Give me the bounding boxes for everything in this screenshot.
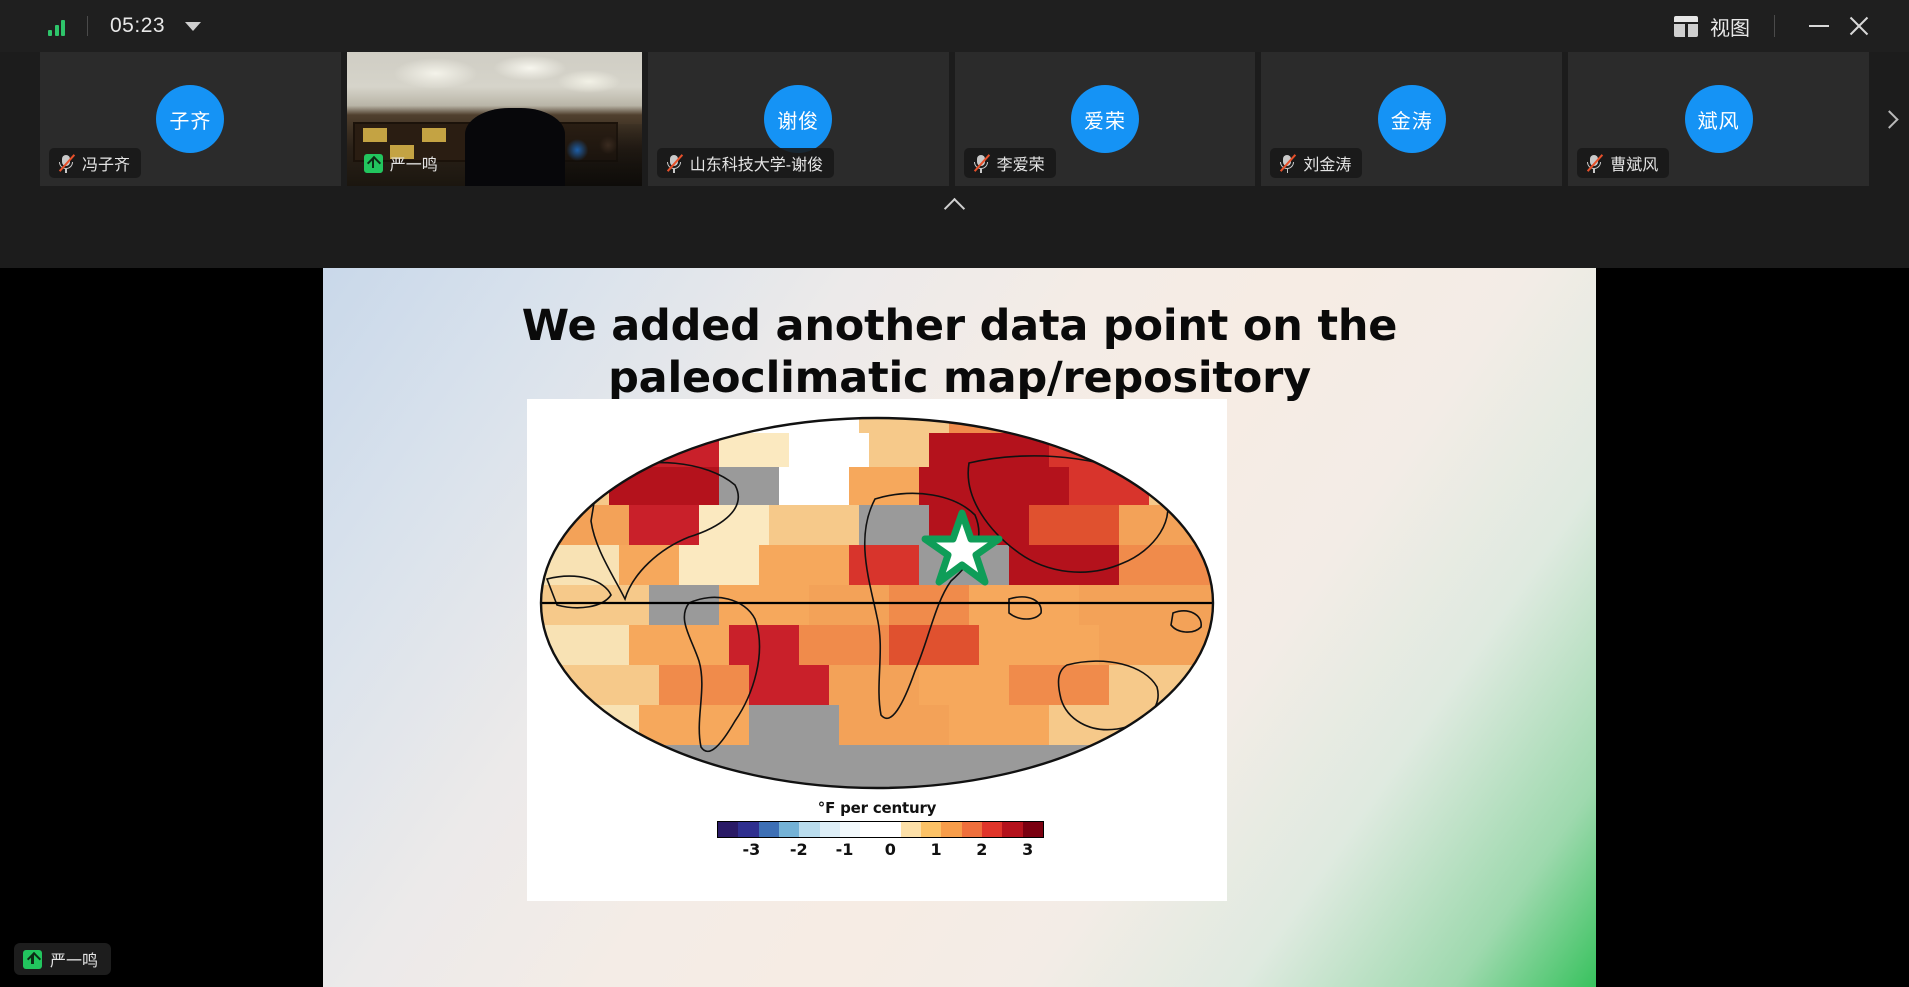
signal-strength-icon (48, 16, 65, 36)
participant-tile[interactable]: 爱荣 李爱荣 (955, 52, 1256, 186)
participant-name-chip: 李爱荣 (964, 148, 1056, 178)
avatar: 谢俊 (764, 85, 832, 153)
colorbar-label: °F per century (527, 799, 1227, 817)
colorbar-tick: 2 (976, 840, 987, 859)
participant-name-chip: 严一鸣 (356, 148, 449, 178)
colorbar-tick: -1 (836, 840, 854, 859)
microphone-muted-icon (1585, 153, 1603, 173)
layout-grid-icon (1674, 16, 1698, 37)
sharing-status-chip: 严一鸣 (14, 943, 111, 975)
title-bar-right: 视图 (1674, 6, 1909, 46)
microphone-muted-icon (665, 153, 683, 173)
participant-name: 刘金涛 (1303, 151, 1351, 175)
climate-heatmap (539, 403, 1215, 803)
meeting-timer: 05:23 (110, 14, 165, 38)
filmstrip-next-button[interactable] (1871, 52, 1907, 186)
chevron-down-icon[interactable] (185, 22, 201, 31)
participant-name-chip: 冯子齐 (49, 148, 141, 178)
participant-name-chip: 刘金涛 (1270, 148, 1362, 178)
close-button[interactable] (1839, 6, 1879, 46)
title-bar: 05:23 视图 (0, 0, 1909, 52)
chevron-right-icon (1880, 110, 1898, 128)
colorbar (717, 821, 1044, 838)
screen-share-icon (23, 950, 42, 969)
screen-share-icon (364, 154, 383, 173)
close-icon (1848, 15, 1870, 37)
participant-tile-video[interactable]: 严一鸣 (347, 52, 642, 186)
participant-name: 冯子齐 (82, 151, 130, 175)
participant-name-chip: 山东科技大学-谢俊 (657, 148, 834, 178)
divider (1774, 15, 1775, 37)
view-button[interactable]: 视图 (1674, 12, 1750, 41)
participant-name: 曹斌风 (1610, 151, 1658, 175)
avatar: 子齐 (156, 85, 224, 153)
microphone-muted-icon (972, 153, 990, 173)
colorbar-tick: -2 (790, 840, 808, 859)
colorbar-tick: 1 (931, 840, 942, 859)
participant-name: 严一鸣 (390, 151, 438, 175)
minimize-icon (1809, 25, 1829, 27)
avatar: 爱荣 (1071, 85, 1139, 153)
participant-tile[interactable]: 斌风 曹斌风 (1568, 52, 1869, 186)
colorbar-tick: 0 (885, 840, 896, 859)
participant-tile[interactable]: 子齐 冯子齐 (40, 52, 341, 186)
meeting-window: 05:23 视图 子齐 (0, 0, 1909, 987)
microphone-muted-icon (57, 153, 75, 173)
sharing-presenter-name: 严一鸣 (50, 947, 98, 971)
video-scene-person (465, 108, 565, 186)
participant-name: 山东科技大学-谢俊 (690, 151, 823, 175)
participant-name: 李爱荣 (997, 151, 1045, 175)
chevron-up-icon (944, 198, 965, 219)
participant-name-chip: 曹斌风 (1577, 148, 1669, 178)
colorbar-ticks: -3 -2 -1 0 1 2 3 (717, 840, 1044, 862)
map-svg (539, 403, 1215, 803)
slide-title: We added another data point on the paleo… (375, 300, 1544, 405)
collapse-filmstrip-button[interactable] (0, 186, 1909, 225)
participant-tile[interactable]: 金涛 刘金涛 (1261, 52, 1562, 186)
view-button-label: 视图 (1710, 12, 1750, 41)
microphone-muted-icon (1278, 153, 1296, 173)
figure-container: °F per century -3 -2 -1 0 1 (527, 399, 1227, 901)
presentation-slide: We added another data point on the paleo… (323, 268, 1596, 987)
avatar: 斌风 (1685, 85, 1753, 153)
minimize-button[interactable] (1799, 6, 1839, 46)
divider (87, 16, 88, 36)
colorbar-tick: 3 (1022, 840, 1033, 859)
avatar: 金涛 (1378, 85, 1446, 153)
shared-screen-stage: We added another data point on the paleo… (0, 268, 1909, 987)
colorbar-tick: -3 (742, 840, 760, 859)
title-bar-left: 05:23 (0, 14, 201, 38)
participant-filmstrip: 子齐 冯子齐 严一鸣 谢俊 (0, 52, 1909, 186)
participant-tile[interactable]: 谢俊 山东科技大学-谢俊 (648, 52, 949, 186)
